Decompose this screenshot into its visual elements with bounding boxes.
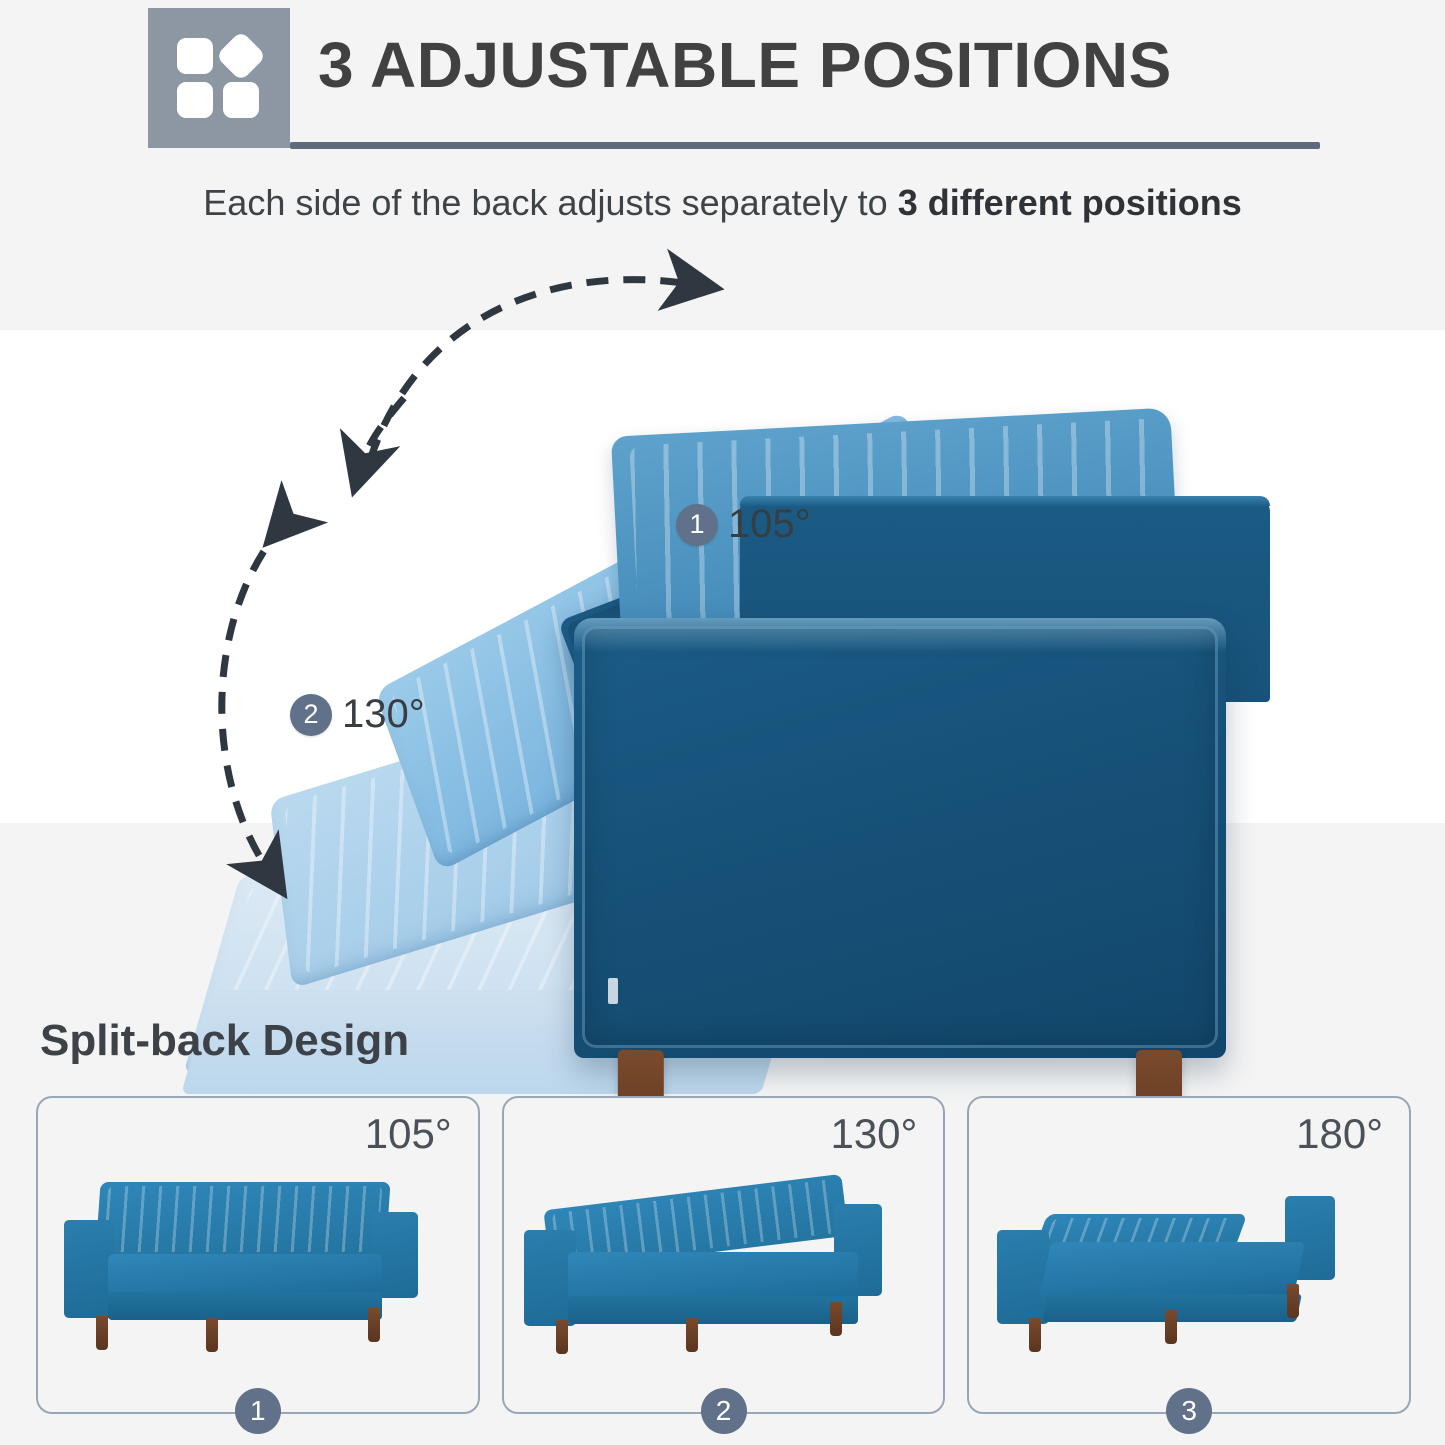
arc-to-105: [370, 280, 690, 460]
step-badge: 2: [290, 694, 332, 736]
split-back-title: Split-back Design: [40, 1016, 409, 1066]
mini-arm-left: [64, 1220, 114, 1318]
step-angle: 130°: [342, 692, 425, 737]
position-panel-3[interactable]: 180° 3: [967, 1096, 1411, 1414]
mini-backrest: [95, 1182, 390, 1256]
mini-arm-left: [997, 1230, 1049, 1324]
arc-to-130-head: [370, 280, 690, 460]
arrowhead-130: [362, 398, 404, 464]
hero-illustration: 1 105° 2 130° 3 180°: [0, 248, 1445, 1100]
mini-leg: [556, 1320, 568, 1354]
panel-badge: 2: [701, 1388, 747, 1434]
rotation-arrows: [0, 248, 1445, 1100]
mini-base: [568, 1296, 858, 1324]
step-badge: 1: [676, 504, 718, 546]
step-label-1: 1 105°: [676, 502, 811, 547]
step-label-2: 2 130°: [290, 692, 425, 737]
mini-leg: [206, 1318, 218, 1352]
mini-leg: [1165, 1310, 1177, 1344]
mini-base: [108, 1292, 382, 1320]
infographic-page: 3 ADJUSTABLE POSITIONS Each side of the …: [0, 0, 1445, 1445]
subtitle-plain: Each side of the back adjusts separately…: [203, 182, 897, 223]
arc-130-to-180: [222, 522, 286, 870]
mini-leg: [1029, 1318, 1041, 1352]
header: 3 ADJUSTABLE POSITIONS: [0, 0, 1445, 160]
mini-leg: [1287, 1284, 1299, 1318]
position-panel-2[interactable]: 130° 2: [502, 1096, 946, 1414]
panel-angle: 105°: [365, 1110, 452, 1158]
mini-ribs: [104, 1186, 383, 1252]
position-panel-1[interactable]: 105° 1: [36, 1096, 480, 1414]
page-title: 3 ADJUSTABLE POSITIONS: [318, 28, 1172, 102]
mini-leg: [830, 1302, 842, 1336]
mini-leg: [368, 1308, 380, 1342]
mini-leg: [686, 1318, 698, 1352]
mini-sofa-130: [504, 1168, 944, 1358]
subtitle-bold: 3 different positions: [898, 182, 1242, 223]
mini-sofa-105: [38, 1168, 478, 1358]
panel-angle: 180°: [1296, 1110, 1383, 1158]
mini-leg: [96, 1316, 108, 1350]
panel-badge: 1: [235, 1388, 281, 1434]
split-back-panels: 105° 1 130°: [36, 1096, 1411, 1414]
panel-angle: 130°: [830, 1110, 917, 1158]
step-angle: 105°: [728, 502, 811, 547]
mini-sofa-180: [969, 1168, 1409, 1358]
grid-four-squares-icon: [148, 8, 290, 148]
header-divider: [290, 142, 1320, 149]
mini-flat-seat: [1039, 1242, 1305, 1300]
subtitle: Each side of the back adjusts separately…: [0, 182, 1445, 224]
panel-badge: 3: [1166, 1388, 1212, 1434]
